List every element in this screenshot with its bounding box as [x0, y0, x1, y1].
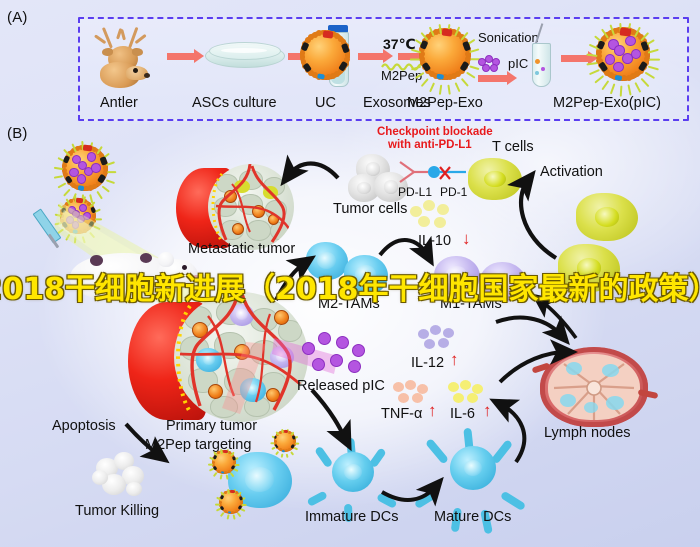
process-arrow-6: [561, 55, 589, 62]
pic-cargo-dot: [87, 152, 96, 161]
targeting-nanoparticle-2: [219, 490, 243, 514]
membrane-protein: [442, 28, 453, 36]
m2pep-spike: [275, 451, 279, 455]
tumor-killing-label: Tumor Killing: [75, 503, 159, 519]
il12-label: IL-12: [411, 355, 444, 371]
mature-dcs-label: Mature DCs: [434, 509, 511, 525]
m2pep-spike: [237, 512, 241, 517]
il12-up-arrow: ↑: [450, 350, 459, 370]
m2pep-spike: [242, 504, 247, 506]
membrane-bead: [224, 510, 227, 513]
process-arrow-5: [478, 75, 508, 82]
membrane-protein: [615, 74, 623, 81]
m2pep-spike: [107, 172, 116, 174]
m2pep-spike: [220, 475, 223, 480]
il10-down-arrow: ↓: [462, 229, 471, 249]
exosome-icon-main: [300, 30, 350, 80]
pd-1-label: PD-1: [440, 185, 467, 199]
pic-cargo-dot: [625, 36, 636, 47]
apoptosis-label: Apoptosis: [52, 418, 116, 434]
m2pep-spike: [215, 504, 220, 506]
step-label-antler: Antler: [100, 95, 138, 111]
tumor-cells-label: Tumor cells: [333, 201, 407, 217]
targeting-nanoparticle-1: [212, 450, 236, 474]
activation-label: Activation: [540, 164, 603, 180]
watermark-text: 2018干细胞新进展（2018年干细胞国家最新的政策）: [0, 264, 700, 308]
m2pep-spike: [286, 453, 289, 458]
m2pep-spike: [294, 447, 299, 450]
sonication-tube-icon: [530, 27, 552, 89]
process-arrow-1: [167, 53, 195, 60]
panel-a-label: (A): [7, 9, 28, 26]
m2pep-spike: [221, 512, 225, 517]
mature-dc-icon: [432, 432, 512, 506]
step-label-uc: UC: [315, 95, 336, 111]
m2pep-spike: [295, 442, 299, 444]
m2pep-spike: [649, 58, 660, 60]
released-pic-cluster: [300, 330, 368, 376]
checkpoint-blockade-line1: Checkpoint blockade: [377, 126, 493, 139]
metastatic-tumor-label: Metastatic tumor: [188, 241, 295, 257]
pic-cluster-icon: [478, 55, 504, 71]
membrane-protein: [282, 449, 285, 452]
apoptotic-body-icon: [92, 452, 148, 498]
m2pep-spike: [235, 464, 240, 466]
released-pic-label: Released pIC: [297, 378, 385, 394]
t-cell-1: [468, 158, 522, 200]
pic-cargo-dot: [78, 161, 87, 170]
petri-dish-icon: [205, 42, 283, 70]
step-label-m2pep-exo-pic: M2Pep-Exo(pIC): [553, 95, 661, 111]
m2pep-spike: [227, 515, 230, 520]
membrane-bead: [217, 470, 220, 473]
t-cells-label: T cells: [492, 139, 534, 155]
m2pep-spike: [281, 453, 284, 458]
panel-b-label: (B): [7, 125, 28, 142]
pic-cargo-dot: [614, 45, 625, 56]
m2pep-exosome-pic-icon: [596, 27, 650, 81]
m2pep-spike: [410, 58, 420, 60]
tnf-alpha-label: TNF-α: [381, 406, 422, 422]
deer-icon: [92, 26, 164, 88]
scientific-figure: (A) 37℃ M2Pep: [0, 0, 700, 547]
step-label-m2pep-exo: M2Pep-Exo: [407, 95, 483, 111]
lymph-nodes-label: Lymph nodes: [544, 425, 631, 441]
il10-label: IL-10: [418, 233, 451, 249]
m2pep-spike: [57, 182, 66, 188]
il10-cytokine-cluster: [410, 200, 458, 230]
m2pep-spike: [208, 464, 213, 466]
m2pep-spike: [226, 475, 229, 480]
m2pep-spike: [291, 451, 295, 455]
m2pep-exosome-icon: [419, 28, 471, 80]
immature-dcs-label: Immature DCs: [305, 509, 398, 525]
pic-cargo-dot: [91, 163, 100, 172]
t-cell-2: [576, 193, 638, 241]
tnf-cytokine-cluster: [393, 380, 433, 406]
il6-up-arrow: ↑: [483, 401, 492, 421]
primary-tumor-label: Primary tumor: [166, 418, 257, 434]
checkpoint-blockade-line2: with anti-PD-L1: [388, 139, 472, 152]
targeting-nanoparticle-3: [274, 430, 296, 452]
pic-label: pIC: [508, 56, 528, 71]
il6-label: IL-6: [450, 406, 475, 422]
pic-cargo-dot: [77, 174, 86, 183]
il12-cytokine-cluster: [418, 325, 460, 353]
m2pep-spike: [54, 175, 63, 179]
tnf-up-arrow: ↑: [428, 401, 437, 421]
membrane-protein: [322, 30, 333, 38]
pic-cargo-dot: [613, 62, 624, 73]
il6-cytokine-cluster: [448, 380, 488, 406]
m2pep-spike: [105, 179, 114, 184]
m2pep-spike: [233, 515, 236, 520]
lymph-nodes-icon: [532, 345, 656, 433]
membrane-protein: [620, 27, 632, 36]
immature-dc-icon: [318, 438, 388, 504]
m2pep-spike: [214, 472, 218, 477]
pd-l1-label: PD-L1: [398, 185, 432, 199]
step-label-asc-culture: ASCs culture: [192, 95, 277, 111]
free-nanoparticle-1: [62, 145, 108, 191]
m2pep-spike: [241, 508, 246, 512]
